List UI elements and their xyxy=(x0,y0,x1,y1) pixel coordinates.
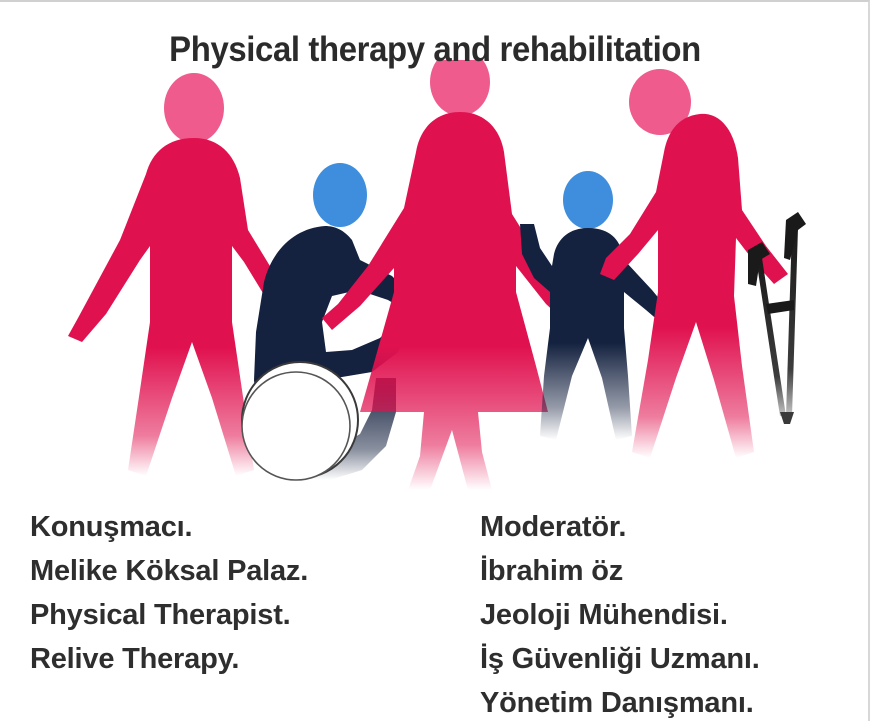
credit-left-line-3: Relive Therapy. xyxy=(30,637,308,681)
illustration-people-group xyxy=(0,60,870,490)
credit-left-line-0: Konuşmacı. xyxy=(30,505,308,549)
figure-child-head xyxy=(563,171,613,229)
credit-left-line-2: Physical Therapist. xyxy=(30,593,308,637)
figure-elderly-with-cane xyxy=(600,69,806,458)
credit-left-line-1: Melike Köksal Palaz. xyxy=(30,549,308,593)
poster-canvas: Physical therapy and rehabilitation xyxy=(0,0,870,721)
figure-adult-left-head xyxy=(164,73,224,143)
credit-right-line-3: İş Güvenliği Uzmanı. xyxy=(480,637,760,681)
credit-right-line-4: Yönetim Danışmanı. xyxy=(480,681,760,721)
figure-wheelchair-user-head xyxy=(313,163,367,227)
cane-shaft-left xyxy=(756,258,786,416)
credit-right-line-0: Moderatör. xyxy=(480,505,760,549)
credits-moderator-block: Moderatör. İbrahim öz Jeoloji Mühendisi.… xyxy=(480,505,760,721)
wheelchair-wheel-inner xyxy=(242,372,350,480)
credit-right-line-2: Jeoloji Mühendisi. xyxy=(480,593,760,637)
credit-right-line-1: İbrahim öz xyxy=(480,549,760,593)
page-title: Physical therapy and rehabilitation xyxy=(26,30,844,70)
cane-tip xyxy=(780,412,794,424)
credits-speaker-block: Konuşmacı. Melike Köksal Palaz. Physical… xyxy=(30,505,308,681)
